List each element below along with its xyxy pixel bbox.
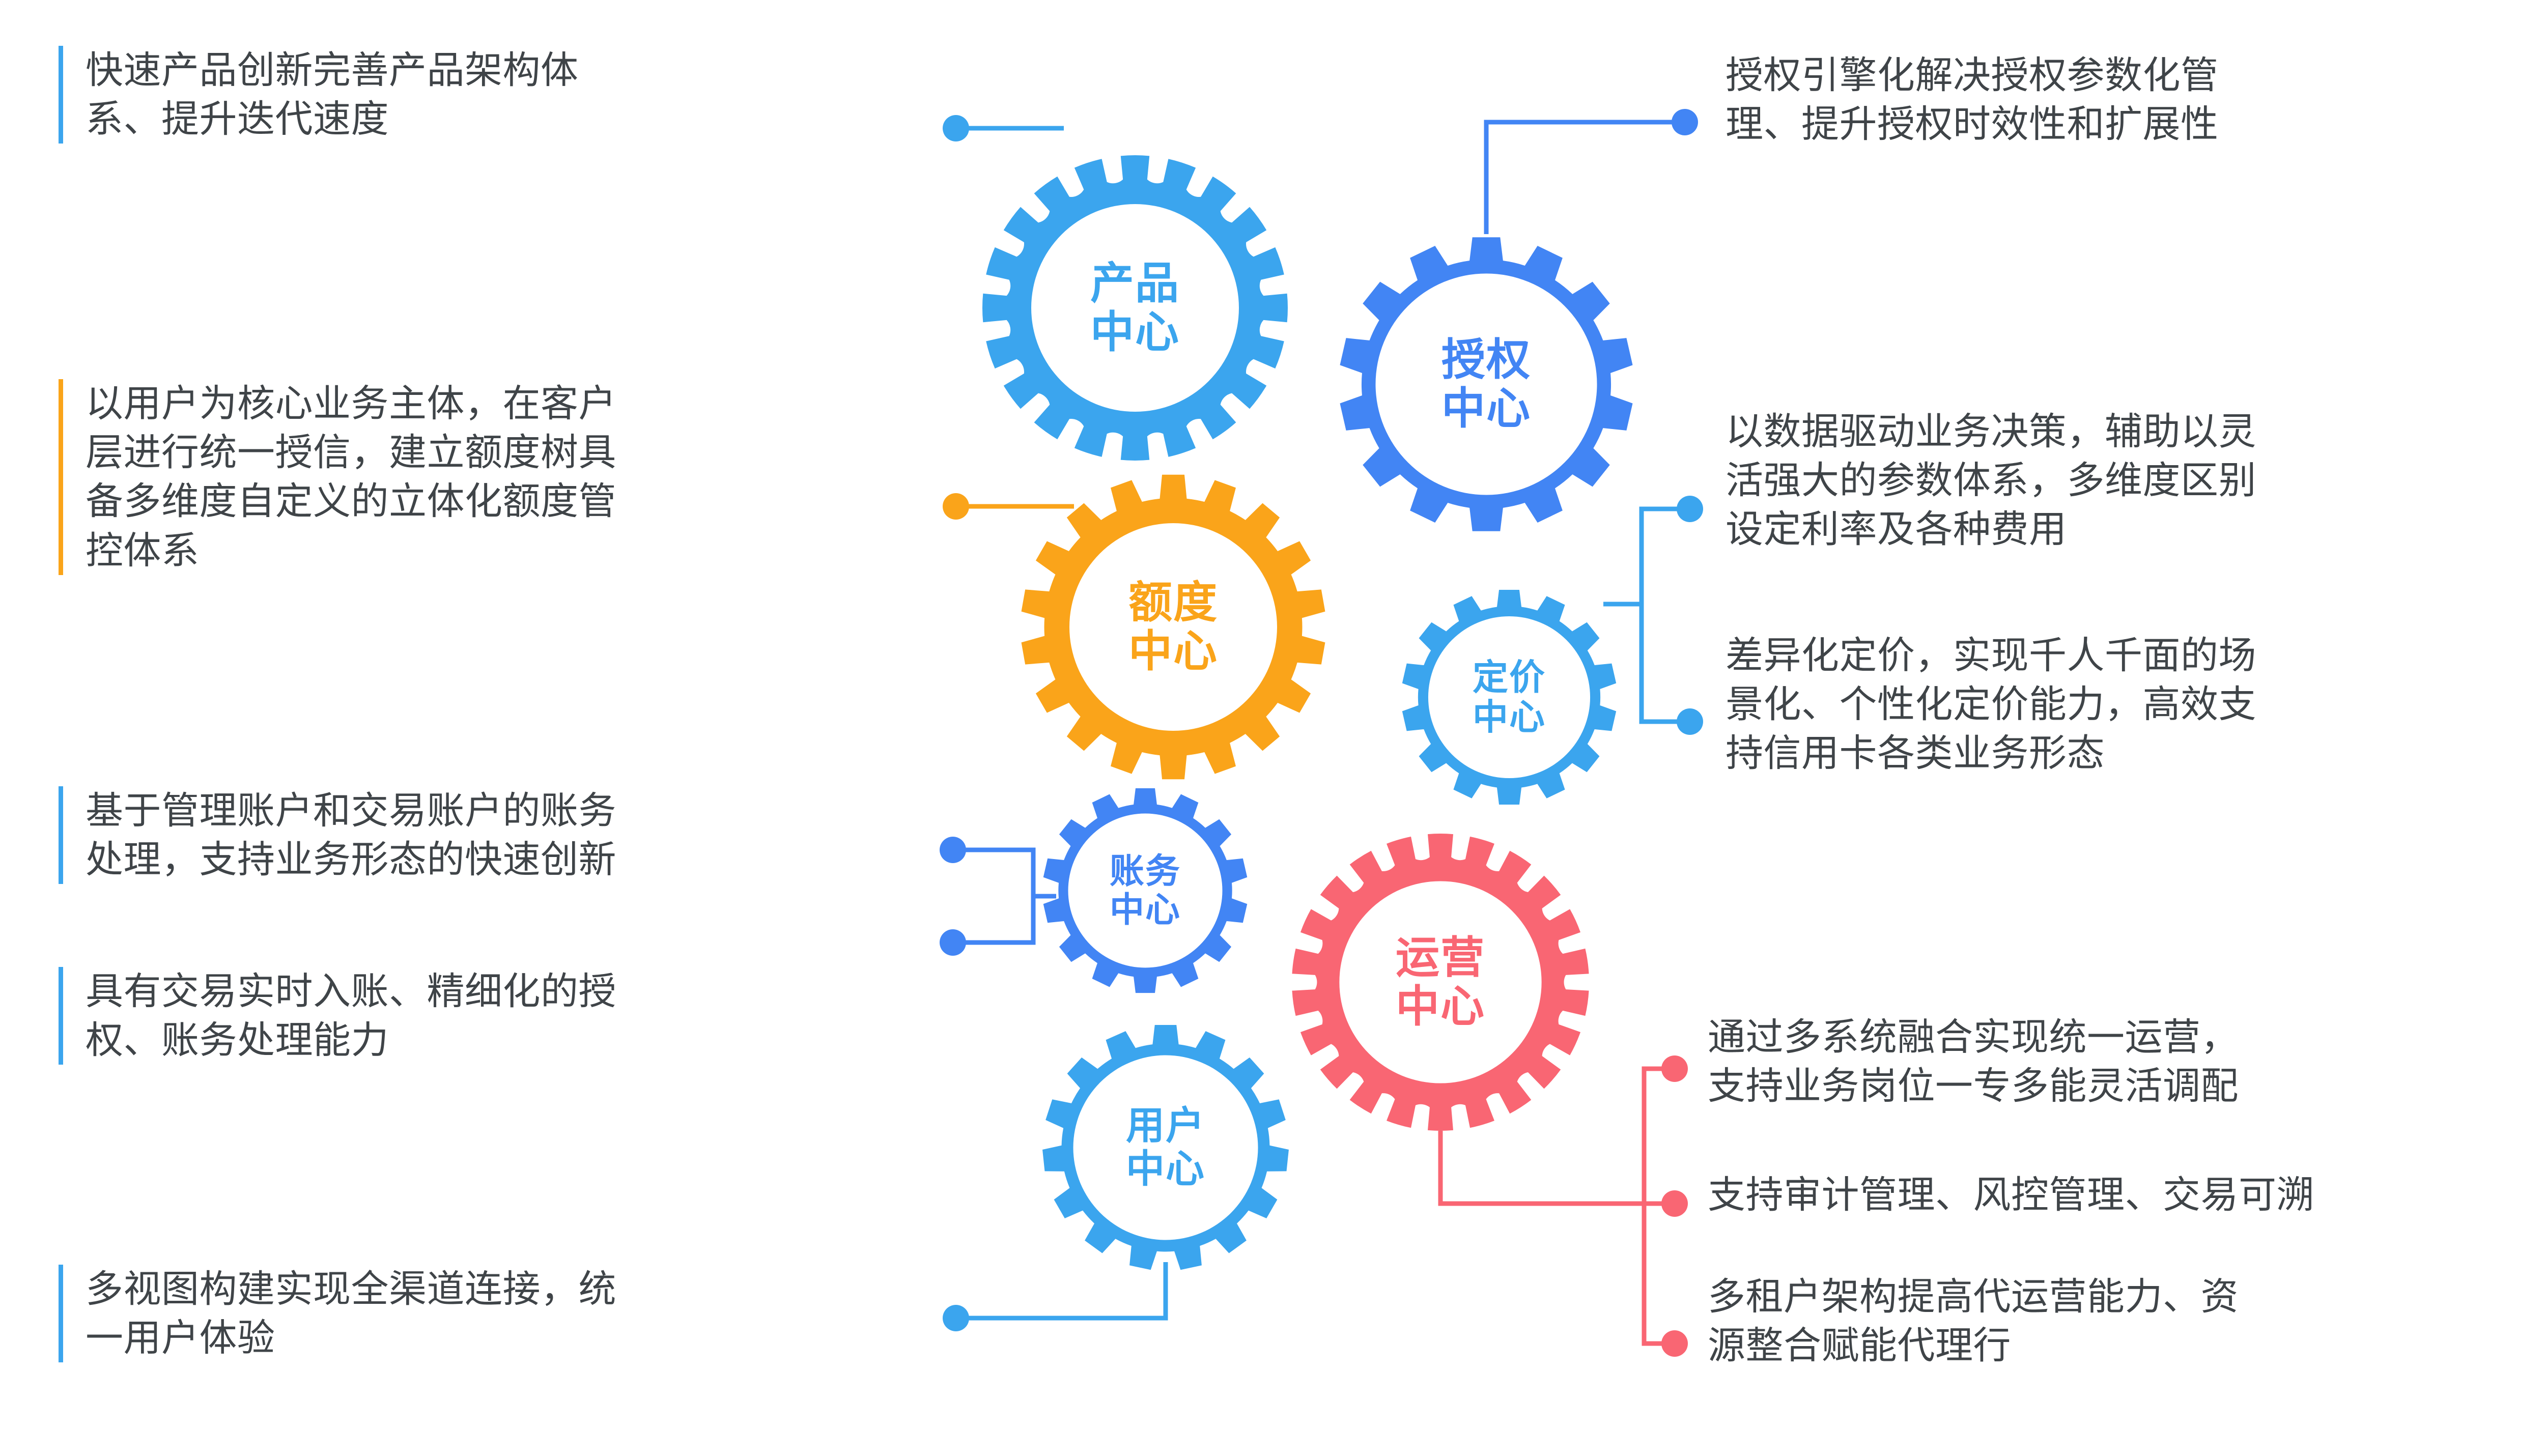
callout-credit-note: 以用户为核心业务主体，在客户 层进行统一授信，建立额度树具 备多维度自定义的立体…	[59, 379, 946, 575]
gear-pricing-center[interactable]: 定价 中心	[1396, 584, 1622, 810]
gear-user-center[interactable]: 用户 中心	[1037, 1019, 1294, 1276]
gear-product-center[interactable]: 产品 中心	[977, 150, 1293, 466]
callout-product-note: 快速产品创新完善产品架构体 系、提升迭代速度	[59, 46, 946, 144]
infographic-canvas: 产品 中心 授权 中心 额度 中心 定价 中心 账务 中心 运营 中心	[0, 0, 2545, 1456]
gear-shape-product	[977, 150, 1293, 466]
callout-pricing-note-1: 以数据驱动业务决策，辅助以灵 活强大的参数体系，多维度区别 设定利率及各种费用	[1726, 407, 2545, 554]
callout-user-note: 多视图构建实现全渠道连接，统 一用户体验	[59, 1265, 966, 1362]
gear-shape-credit	[1015, 469, 1331, 785]
callout-operation-note-2: 支持审计管理、风控管理、交易可溯	[1708, 1170, 2545, 1219]
connector-authority	[1486, 109, 1698, 234]
gear-operation-center[interactable]: 运营 中心	[1287, 829, 1594, 1136]
gear-shape-accounting	[1037, 783, 1253, 998]
callout-pricing-note-2: 差异化定价，实现千人千面的场 景化、个性化定价能力，高效支 持信用卡各类业务形态	[1726, 631, 2545, 778]
gear-shape-user	[1037, 1019, 1294, 1276]
gear-credit-center[interactable]: 额度 中心	[1015, 469, 1331, 785]
gear-shape-pricing	[1396, 584, 1622, 810]
callout-operation-note-3: 多租户架构提高代运营能力、资 源整合赋能代理行	[1708, 1272, 2545, 1370]
gear-shape-authority	[1334, 232, 1639, 537]
gear-shape-operation	[1287, 829, 1594, 1136]
callout-accounting-note-1: 基于管理账户和交易账户的账务 处理，支持业务形态的快速创新	[59, 786, 966, 884]
callout-accounting-note-2: 具有交易实时入账、精细化的授 权、账务处理能力	[59, 967, 966, 1065]
gear-authority-center[interactable]: 授权 中心	[1334, 232, 1639, 537]
callout-operation-note-1: 通过多系统融合实现统一运营， 支持业务岗位一专多能灵活调配	[1708, 1013, 2545, 1110]
callout-authority-note: 授权引擎化解决授权参数化管 理、提升授权时效性和扩展性	[1726, 51, 2545, 149]
gear-accounting-center[interactable]: 账务 中心	[1037, 783, 1253, 998]
connector-product	[943, 115, 1064, 141]
